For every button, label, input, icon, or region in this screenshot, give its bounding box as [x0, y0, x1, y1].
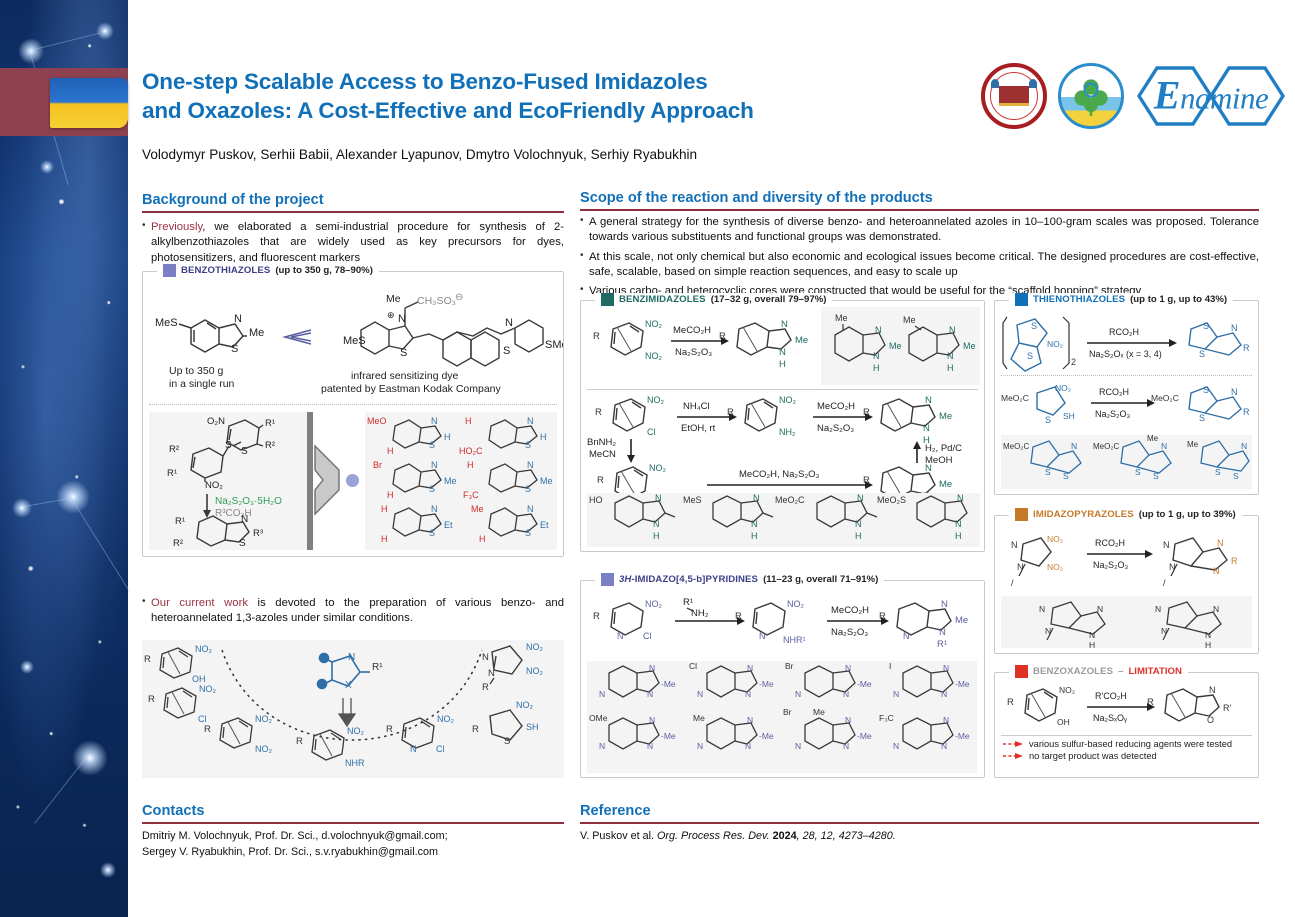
svg-text:OMe: OMe	[589, 713, 608, 723]
svg-text:NO₂: NO₂	[647, 395, 665, 405]
background-bullet-1-highlight: Previously	[151, 221, 202, 233]
svg-text:N: N	[745, 741, 751, 751]
svg-text:N: N	[759, 631, 766, 641]
dye-caption-2: patented by Eastman Kodak Company	[321, 383, 502, 395]
svg-text:H: H	[381, 534, 388, 544]
reagent-b1-top: NH₄Cl	[683, 401, 710, 412]
svg-text:S: S	[429, 484, 435, 494]
scheme-imidazopyrazole: N N / NO₂ NO₂ RCO₂H Na₂S₂O₃ N N / N N R	[999, 530, 1255, 592]
svg-text:N: N	[697, 741, 703, 751]
scheme-substrate-scope: N X R¹ R NO₂ OH R NO₂ Cl	[142, 640, 564, 778]
reagent-branch-top: BnNH₂	[587, 437, 616, 448]
svg-text:H: H	[855, 531, 862, 541]
svg-text:NO₂: NO₂	[255, 714, 273, 724]
svg-text:S: S	[1199, 413, 1205, 423]
reagent-ipz-bottom: Na₂S₂O₃	[1093, 560, 1128, 570]
svg-text:S: S	[1031, 321, 1037, 331]
svg-text:N: N	[943, 663, 949, 673]
svg-text:S: S	[241, 446, 248, 457]
svg-text:N: N	[845, 715, 851, 725]
reagent-branch-bottom: MeCN	[589, 449, 616, 460]
svg-text:N: N	[1213, 566, 1220, 576]
svg-text:Me: Me	[795, 335, 808, 346]
panel-thienothiazoles: THIENOTHIAZOLES (up to 1 g, up to 43%) S…	[994, 300, 1259, 495]
imidazopyrazole-example-structures: N N N N H N N N N H	[1001, 596, 1252, 648]
svg-text:NO₂: NO₂	[645, 319, 663, 329]
svg-text:N: N	[527, 460, 534, 470]
svg-text:N: N	[1213, 604, 1219, 614]
svg-text:S: S	[231, 343, 238, 355]
svg-text:Br: Br	[783, 707, 792, 717]
svg-text:R: R	[735, 611, 742, 622]
svg-text:N: N	[845, 663, 851, 673]
svg-text:S: S	[225, 440, 232, 451]
decorative-space-background	[0, 0, 128, 917]
svg-text:S: S	[1135, 467, 1141, 477]
svg-text:Me: Me	[939, 479, 952, 490]
reference-journal: Org. Process Res. Dev.	[657, 830, 770, 842]
reagent-ip-r1: R¹	[683, 597, 693, 608]
svg-text:Et: Et	[540, 520, 549, 530]
panel-title-thienothiazoles: THIENOTHIAZOLES (up to 1 g, up to 43%)	[1009, 293, 1233, 306]
dye-caption-1: infrared sensitizing dye	[351, 370, 459, 382]
svg-text:NO₂: NO₂	[195, 644, 213, 654]
svg-text:NO₂: NO₂	[255, 744, 273, 754]
svg-text:S: S	[1045, 467, 1051, 477]
svg-text:S: S	[504, 736, 510, 747]
svg-text:⊕: ⊕	[387, 310, 395, 320]
star-icon	[100, 862, 116, 878]
svg-text:R: R	[1007, 697, 1014, 708]
background-bullet-1: Previously, we elaborated a semi-industr…	[142, 220, 564, 266]
svg-text:N: N	[779, 347, 786, 358]
svg-text:Me: Me	[471, 504, 484, 514]
svg-text:N: N	[1017, 562, 1024, 572]
svg-text:R²: R²	[265, 440, 275, 451]
svg-text:R: R	[386, 724, 393, 735]
svg-text:MeO₂S: MeO₂S	[877, 495, 906, 505]
svg-text:NO₂: NO₂	[779, 395, 797, 405]
svg-text:SH: SH	[1063, 411, 1075, 421]
background-bullet-2: Our current work is devoted to the prepa…	[142, 596, 564, 627]
section-heading-scope: Scope of the reaction and diversity of t…	[580, 190, 1259, 211]
svg-text:R¹: R¹	[265, 418, 275, 429]
panel-benzothiazoles: BENZOTHIAZOLES (up to 350 g, 78–90%) MeS…	[142, 271, 564, 557]
svg-text:Me: Me	[889, 341, 902, 351]
swatch-benzimidazoles	[601, 293, 614, 306]
svg-text:NO₂: NO₂	[1047, 534, 1063, 544]
svg-text:R: R	[1231, 556, 1238, 566]
svg-text:S: S	[1233, 471, 1239, 481]
svg-text:Me: Me	[835, 313, 848, 323]
svg-text:HO: HO	[589, 495, 603, 505]
svg-text:S: S	[400, 347, 407, 359]
svg-text:Me: Me	[249, 327, 264, 339]
svg-text:SMe: SMe	[545, 339, 563, 351]
svg-text:R²: R²	[173, 538, 183, 549]
svg-text:Me: Me	[693, 713, 705, 723]
core-r1-label: R¹	[372, 662, 383, 673]
swatch-benzoxazoles	[1015, 665, 1028, 678]
svg-text:NO₂: NO₂	[347, 726, 365, 736]
svg-text:N: N	[941, 599, 948, 610]
svg-text:R: R	[296, 736, 303, 747]
scheme-benzoxazole: R NO₂ OH R'CO₂H Na₂SₓOᵧ R N O R'	[999, 685, 1255, 737]
svg-text:N: N	[745, 689, 751, 699]
svg-text:N: N	[1169, 562, 1176, 572]
reagent-b1-bottom: EtOH, rt	[681, 423, 716, 434]
red-dashed-arrow-icon	[1003, 752, 1025, 760]
tile-thienothiazole-examples: MeO₂C S N S MeO₂C S N S Me Me S N S	[1001, 435, 1252, 489]
svg-text:Me: Me	[386, 293, 401, 305]
reagent-ip2-top: MeCO₂H	[831, 605, 869, 616]
svg-text:NO₂: NO₂	[1047, 339, 1063, 349]
svg-text:N: N	[649, 715, 655, 725]
panel-divider	[1001, 375, 1252, 376]
svg-text:R: R	[593, 611, 600, 622]
star-icon	[40, 160, 54, 174]
svg-text:NO₂: NO₂	[516, 700, 534, 710]
svg-text:N: N	[241, 514, 248, 525]
constellation-line	[24, 497, 73, 507]
panel-title-benzothiazoles: BENZOTHIAZOLES (up to 350 g, 78–90%)	[157, 264, 379, 277]
svg-text:N: N	[857, 493, 864, 503]
svg-text:-Me: -Me	[661, 731, 676, 741]
svg-text:N: N	[234, 313, 242, 325]
svg-text:NO₂: NO₂	[1055, 383, 1071, 393]
scheme-imidazopyridine: R N NO₂ Cl R¹ NH₂ R N NO₂ NHR¹ MeCO₂H Na…	[587, 595, 977, 661]
reagent-a-bottom: Na₂S₂O₃	[675, 347, 712, 358]
background-bullet-2-highlight: Our current work	[151, 597, 248, 609]
svg-text:N: N	[751, 519, 758, 529]
svg-text:S: S	[429, 528, 435, 538]
svg-text:NO₂: NO₂	[526, 666, 544, 676]
svg-text:R: R	[863, 475, 870, 486]
reagent-up-top: H₂, Pd/C	[925, 443, 962, 454]
svg-text:N: N	[943, 715, 949, 725]
svg-text:NH₂: NH₂	[779, 427, 796, 437]
svg-text:R: R	[1243, 407, 1250, 417]
svg-text:Br: Br	[373, 460, 382, 470]
scheme-thienothiazole-route-2: MeO₂C S NO₂ SH RCO₂H Na₂S₂O₃ MeO₂C S S N…	[999, 381, 1255, 433]
contact-line-1[interactable]: Dmitriy M. Volochnyuk, Prof. Dr. Sci., d…	[142, 829, 564, 845]
svg-text:N: N	[1161, 441, 1167, 451]
svg-text:H: H	[540, 432, 547, 442]
scheme-disulfide-to-benzothiazole: O₂N R¹ R² S S R² R¹ NO₂ Na₂S₂O₃·5H₂O R³C…	[149, 412, 307, 550]
svg-text:R²: R²	[169, 444, 179, 455]
svg-text:N: N	[1217, 538, 1224, 548]
svg-text:N: N	[1011, 540, 1018, 550]
svg-text:Cl: Cl	[647, 427, 656, 437]
swatch-thienothiazoles	[1015, 293, 1028, 306]
svg-text:N: N	[1241, 441, 1247, 451]
svg-text:H: H	[387, 446, 394, 456]
svg-text:MeS: MeS	[683, 495, 702, 505]
svg-text:Me: Me	[1187, 440, 1199, 449]
knu-seal-logo	[981, 63, 1047, 129]
reference-authors: V. Puskov et al.	[580, 830, 657, 842]
svg-text:NO₂: NO₂	[649, 463, 667, 473]
svg-text:N: N	[697, 689, 703, 699]
svg-text:Me: Me	[813, 707, 825, 717]
panel-title-imidazopyrazoles: IMIDAZOPYRAZOLES (up to 1 g, up to 39%)	[1009, 508, 1242, 521]
svg-text:R': R'	[1223, 703, 1231, 713]
reagent-b2-bottom: Na₂S₂O₃	[817, 423, 854, 434]
scheme-benzothiazole-dye: MeS N S Me Up to 350 g in a single run M…	[143, 286, 563, 406]
svg-text:S: S	[1215, 467, 1221, 477]
constellation-line	[34, 755, 88, 823]
svg-text:Me: Me	[939, 411, 952, 422]
svg-text:-Me: -Me	[857, 679, 872, 689]
svg-text:N: N	[653, 519, 660, 529]
svg-text:N: N	[599, 689, 605, 699]
star-icon	[72, 740, 108, 776]
section-heading-contacts: Contacts	[142, 803, 564, 824]
panel-title-benzimidazoles: BENZIMIDAZOLES (17–32 g, overall 79–97%)	[595, 293, 832, 306]
svg-text:R: R	[204, 724, 211, 735]
reagent-up-bottom: MeOH	[925, 455, 953, 466]
svg-text:H: H	[479, 534, 486, 544]
svg-text:Me: Me	[963, 341, 976, 351]
star-icon	[96, 22, 114, 40]
reagent-tt1-bottom: Na₂S₂Oₓ (x = 3, 4)	[1089, 349, 1162, 359]
svg-text:N: N	[398, 313, 406, 325]
svg-text:N: N	[903, 631, 910, 641]
reagent-tt2-bottom: Na₂S₂O₃	[1095, 409, 1130, 419]
scope-bullet-2: At this scale, not only chemical but als…	[580, 250, 1259, 281]
dye-counterion: CH₃SO₃	[417, 295, 456, 307]
reagent-ip2-bottom: Na₂S₂O₃	[831, 627, 868, 638]
star-icon	[12, 498, 32, 518]
svg-text:NHR¹: NHR¹	[783, 635, 806, 645]
svg-text:NHR: NHR	[345, 758, 365, 768]
reagent-bx-top: R'CO₂H	[1095, 691, 1127, 701]
svg-text:X: X	[345, 680, 352, 691]
svg-text:N: N	[1071, 441, 1077, 451]
panel-title-imidazopyridines: 3H-IMIDAZO[4,5-b]PYRIDINES (11–23 g, ove…	[595, 573, 884, 586]
svg-text:N: N	[488, 668, 495, 679]
svg-text:N: N	[1089, 630, 1095, 640]
svg-text:N: N	[941, 689, 947, 699]
panel-imidazopyridines: 3H-IMIDAZO[4,5-b]PYRIDINES (11–23 g, ove…	[580, 580, 985, 778]
svg-text:R: R	[597, 475, 604, 486]
logo-strip: Enamine	[981, 62, 1287, 130]
scheme-benzimidazole-route-a: R NO₂ NO₂ MeCO₂H Na₂S₂O₃ R N N H Me	[587, 315, 819, 381]
svg-text:N: N	[1039, 604, 1045, 614]
svg-text:S: S	[1063, 471, 1069, 481]
svg-text:N: N	[1097, 604, 1103, 614]
svg-text:R¹: R¹	[937, 639, 947, 650]
svg-text:SH: SH	[526, 722, 539, 732]
svg-text:O: O	[1207, 715, 1214, 725]
svg-text:N: N	[617, 631, 624, 641]
reference-year: 2024	[770, 830, 797, 842]
swatch-imidazopyridines	[601, 573, 614, 586]
svg-text:Me: Me	[955, 615, 968, 626]
benzimidazole-example-structures: HO N N H MeS N N H MeO₂C N N H MeO₂S N N…	[587, 493, 980, 547]
svg-text:S: S	[1199, 349, 1205, 359]
svg-text:N: N	[955, 519, 962, 529]
panel-divider	[1001, 735, 1252, 736]
enamine-logo: Enamine	[1135, 62, 1287, 130]
svg-text:H: H	[779, 359, 786, 370]
panel-title-benzoxazoles: BENZOXAZOLES – LIMITATION	[1009, 665, 1188, 678]
svg-text:N: N	[1155, 604, 1161, 614]
svg-text:N: N	[1231, 387, 1238, 397]
ukraine-flag-icon	[50, 78, 128, 128]
svg-text:N: N	[527, 416, 534, 426]
svg-text:Br: Br	[785, 661, 794, 671]
svg-text:R: R	[1243, 343, 1250, 353]
svg-text:N: N	[747, 663, 753, 673]
bullet-dot-icon	[346, 474, 359, 487]
svg-text:H: H	[467, 460, 474, 470]
funnel-arrow-icon	[313, 442, 345, 518]
svg-text:MeO₂C: MeO₂C	[1001, 393, 1029, 403]
svg-text:S: S	[525, 440, 531, 450]
svg-text:N: N	[781, 319, 788, 330]
reagent-bx-bottom: Na₂SₓOᵧ	[1093, 713, 1127, 723]
svg-text:R: R	[863, 407, 870, 418]
section-heading-reference: Reference	[580, 803, 1259, 824]
svg-text:N: N	[348, 652, 355, 663]
tile-benzimidazole-inset: Me N N H Me Me N N H Me	[821, 307, 980, 385]
svg-text:NO₂: NO₂	[645, 351, 663, 361]
svg-text:N: N	[505, 317, 513, 329]
svg-text:Up to 350 g: Up to 350 g	[169, 365, 223, 377]
ioch-seal-logo	[1058, 63, 1124, 129]
tile-benzothiazole-examples: MeO H N S H H HO₂C N S H Br H N S Me H F…	[365, 412, 557, 550]
reagent-a-top: MeCO₂H	[673, 325, 711, 336]
svg-text:H: H	[955, 531, 962, 541]
svg-text:F₃C: F₃C	[463, 490, 479, 500]
svg-text:MeS: MeS	[343, 335, 366, 347]
panel-benzimidazoles: BENZIMIDAZOLES (17–32 g, overall 79–97%)…	[580, 300, 985, 552]
svg-text:Cl: Cl	[643, 631, 652, 641]
svg-text:N: N	[893, 741, 899, 751]
svg-text:S: S	[1153, 471, 1159, 481]
svg-text:N: N	[941, 741, 947, 751]
svg-text:N: N	[410, 744, 417, 754]
page-title: One-step Scalable Access to Benzo-Fused …	[142, 68, 942, 126]
svg-text:N: N	[873, 351, 880, 361]
svg-text:HO₂C: HO₂C	[459, 446, 483, 456]
author-list: Volodymyr Puskov, Serhii Babii, Alexande…	[142, 147, 962, 162]
svg-text:R³: R³	[253, 528, 263, 539]
svg-text:N: N	[649, 663, 655, 673]
svg-text:S: S	[525, 528, 531, 538]
panel-benzoxazoles: BENZOXAZOLES – LIMITATION R NO₂ OH R'CO₂…	[994, 672, 1259, 778]
svg-text:R: R	[593, 331, 600, 342]
thienothiazole-example-structures: MeO₂C S N S MeO₂C S N S Me Me S N S	[1001, 435, 1252, 489]
svg-text:I: I	[889, 661, 891, 671]
divisor-2: 2	[1071, 357, 1076, 367]
title-3h-prefix: 3H-	[619, 574, 635, 585]
svg-text:N: N	[753, 493, 760, 503]
svg-text:Cl: Cl	[436, 744, 445, 754]
svg-text:N: N	[431, 504, 438, 514]
svg-text:NO₂: NO₂	[787, 599, 805, 609]
svg-text:OH: OH	[1057, 717, 1070, 727]
svg-text:N: N	[923, 423, 930, 434]
svg-text:H: H	[444, 432, 451, 442]
svg-text:S: S	[429, 440, 435, 450]
svg-text:N: N	[647, 689, 653, 699]
svg-text:N: N	[1231, 323, 1238, 333]
svg-text:⊖: ⊖	[455, 292, 463, 303]
svg-text:S: S	[1027, 351, 1033, 361]
background-bullet-1-text: , we elaborated a semi-industrial proced…	[151, 221, 564, 264]
svg-text:NO₂: NO₂	[199, 684, 217, 694]
svg-text:-Me: -Me	[661, 679, 676, 689]
swatch-imidazopyrazoles	[1015, 508, 1028, 521]
svg-text:S: S	[239, 538, 246, 549]
poster-title-line-1: One-step Scalable Access to Benzo-Fused …	[142, 68, 942, 97]
reagent-tt1-top: RCO₂H	[1109, 327, 1139, 337]
constellation-line	[30, 33, 100, 51]
knu-seal-inner	[990, 72, 1038, 120]
reference-citation: V. Puskov et al. Org. Process Res. Dev. …	[580, 829, 1259, 845]
svg-text:N: N	[843, 689, 849, 699]
contact-line-2[interactable]: Sergey V. Ryabukhin, Prof. Dr. Sci., s.v…	[142, 845, 564, 861]
svg-text:N: N	[599, 741, 605, 751]
tile-imidazopyridine-examples: N N N -Me Cl N N N -Me Br N N N -Me I N …	[587, 661, 977, 773]
panel-divider	[149, 404, 557, 405]
knu-building-icon	[999, 86, 1029, 106]
svg-text:MeS: MeS	[155, 317, 178, 329]
svg-text:N: N	[647, 741, 653, 751]
svg-text:H: H	[381, 504, 388, 514]
swatch-benzothiazoles	[163, 264, 176, 277]
svg-text:N: N	[655, 493, 662, 503]
svg-text:F₃C: F₃C	[879, 713, 894, 723]
svg-text:H: H	[653, 531, 660, 541]
svg-text:NO₂: NO₂	[526, 642, 544, 652]
svg-text:Me: Me	[1147, 435, 1159, 443]
svg-text:H: H	[465, 416, 472, 426]
svg-text:NO₂: NO₂	[1059, 685, 1075, 695]
benzoxazoles-note-1: various sulfur-based reducing agents wer…	[1029, 739, 1232, 749]
section-heading-background: Background of the project	[142, 192, 564, 213]
scope-bullet-1: A general strategy for the synthesis of …	[580, 215, 1259, 246]
svg-text:NO₂: NO₂	[205, 480, 223, 491]
svg-text:R: R	[482, 682, 489, 693]
imidazopyridine-example-structures: N N N -Me Cl N N N -Me Br N N N -Me I N …	[587, 661, 977, 773]
panel-imidazopyrazoles: IMIDAZOPYRAZOLES (up to 1 g, up to 39%) …	[994, 515, 1259, 654]
svg-text:R: R	[144, 654, 151, 665]
constellation-line	[67, 492, 130, 593]
benzothiazole-example-structures: MeO H N S H H HO₂C N S H Br H N S Me H F…	[365, 412, 557, 550]
star-icon	[20, 660, 34, 674]
svg-text:/: /	[1011, 578, 1014, 588]
svg-text:Me: Me	[903, 315, 916, 325]
svg-text:-Me: -Me	[955, 731, 970, 741]
contacts-block: Dmitriy M. Volochnyuk, Prof. Dr. Sci., d…	[142, 829, 564, 860]
svg-text:N: N	[925, 395, 932, 406]
svg-text:NO₂: NO₂	[645, 599, 663, 609]
svg-text:S: S	[1203, 385, 1209, 395]
tile-imidazopyrazole-examples: N N N N H N N N N H	[1001, 596, 1252, 648]
benzimidazole-inset-structures: Me N N H Me Me N N H Me	[821, 307, 980, 385]
svg-text:H: H	[387, 490, 394, 500]
enamine-wordmark: Enamine	[1154, 72, 1268, 119]
svg-text:Et: Et	[444, 520, 453, 530]
svg-text:in a single run: in a single run	[169, 378, 235, 390]
svg-text:S: S	[503, 345, 510, 357]
svg-text:N: N	[843, 741, 849, 751]
reagent-long: MeCO₂H, Na₂S₂O₃	[739, 469, 820, 480]
svg-text:OH: OH	[192, 674, 206, 684]
